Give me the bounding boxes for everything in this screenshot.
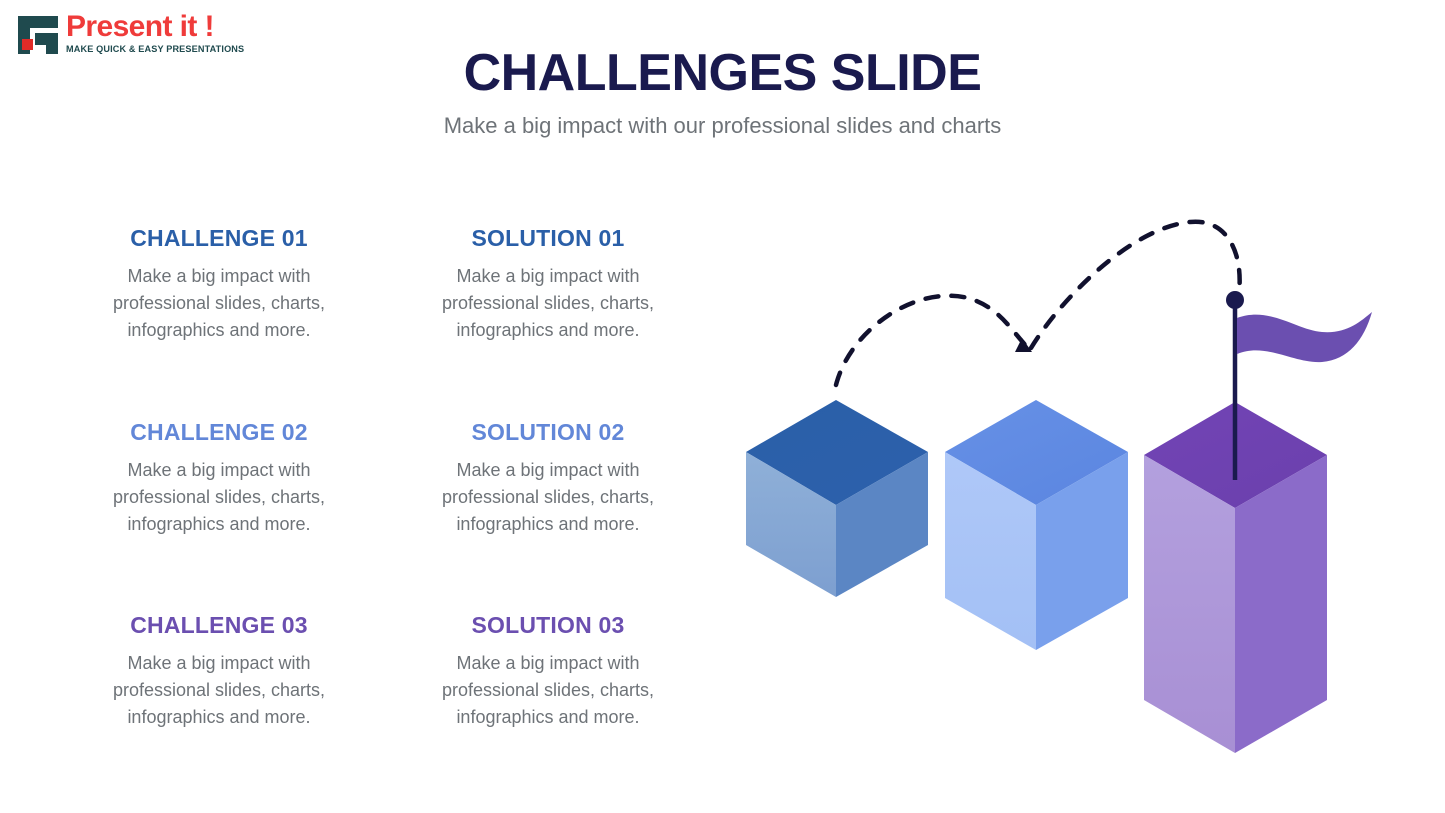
solution-heading-1: SOLUTION 01 (414, 226, 682, 251)
challenge-body-3: Make a big impact with professional slid… (85, 650, 353, 731)
challenge-body-2: Make a big impact with professional slid… (85, 457, 353, 538)
isometric-blocks-illustration (700, 180, 1400, 790)
block-one (746, 400, 928, 597)
challenge-block-3: CHALLENGE 03 Make a big impact with prof… (85, 613, 353, 731)
flag-banner (1237, 312, 1372, 362)
dashed-path-arrow (1015, 338, 1032, 352)
challenge-block-1: CHALLENGE 01 Make a big impact with prof… (85, 226, 353, 344)
block-two (945, 400, 1128, 650)
challenge-body-1: Make a big impact with professional slid… (85, 263, 353, 344)
page-subtitle: Make a big impact with our professional … (0, 112, 1445, 141)
dashed-path-segment-2 (1031, 222, 1240, 348)
solution-body-1: Make a big impact with professional slid… (414, 263, 682, 344)
challenge-block-2: CHALLENGE 02 Make a big impact with prof… (85, 420, 353, 538)
solution-heading-3: SOLUTION 03 (414, 613, 682, 638)
challenge-heading-3: CHALLENGE 03 (85, 613, 353, 638)
challenge-heading-2: CHALLENGE 02 (85, 420, 353, 445)
flag-pole-knob (1226, 291, 1244, 309)
solution-block-3: SOLUTION 03 Make a big impact with profe… (414, 613, 682, 731)
solution-body-2: Make a big impact with professional slid… (414, 457, 682, 538)
solution-block-2: SOLUTION 02 Make a big impact with profe… (414, 420, 682, 538)
challenge-heading-1: CHALLENGE 01 (85, 226, 353, 251)
solution-body-3: Make a big impact with professional slid… (414, 650, 682, 731)
solution-heading-2: SOLUTION 02 (414, 420, 682, 445)
slide-root: Present it ! MAKE QUICK & EASY PRESENTAT… (0, 0, 1445, 813)
dashed-path-segment-1 (836, 296, 1030, 385)
logo-wordmark: Present it ! (66, 12, 252, 42)
solution-block-1: SOLUTION 01 Make a big impact with profe… (414, 226, 682, 344)
page-title: CHALLENGES SLIDE (0, 46, 1445, 101)
